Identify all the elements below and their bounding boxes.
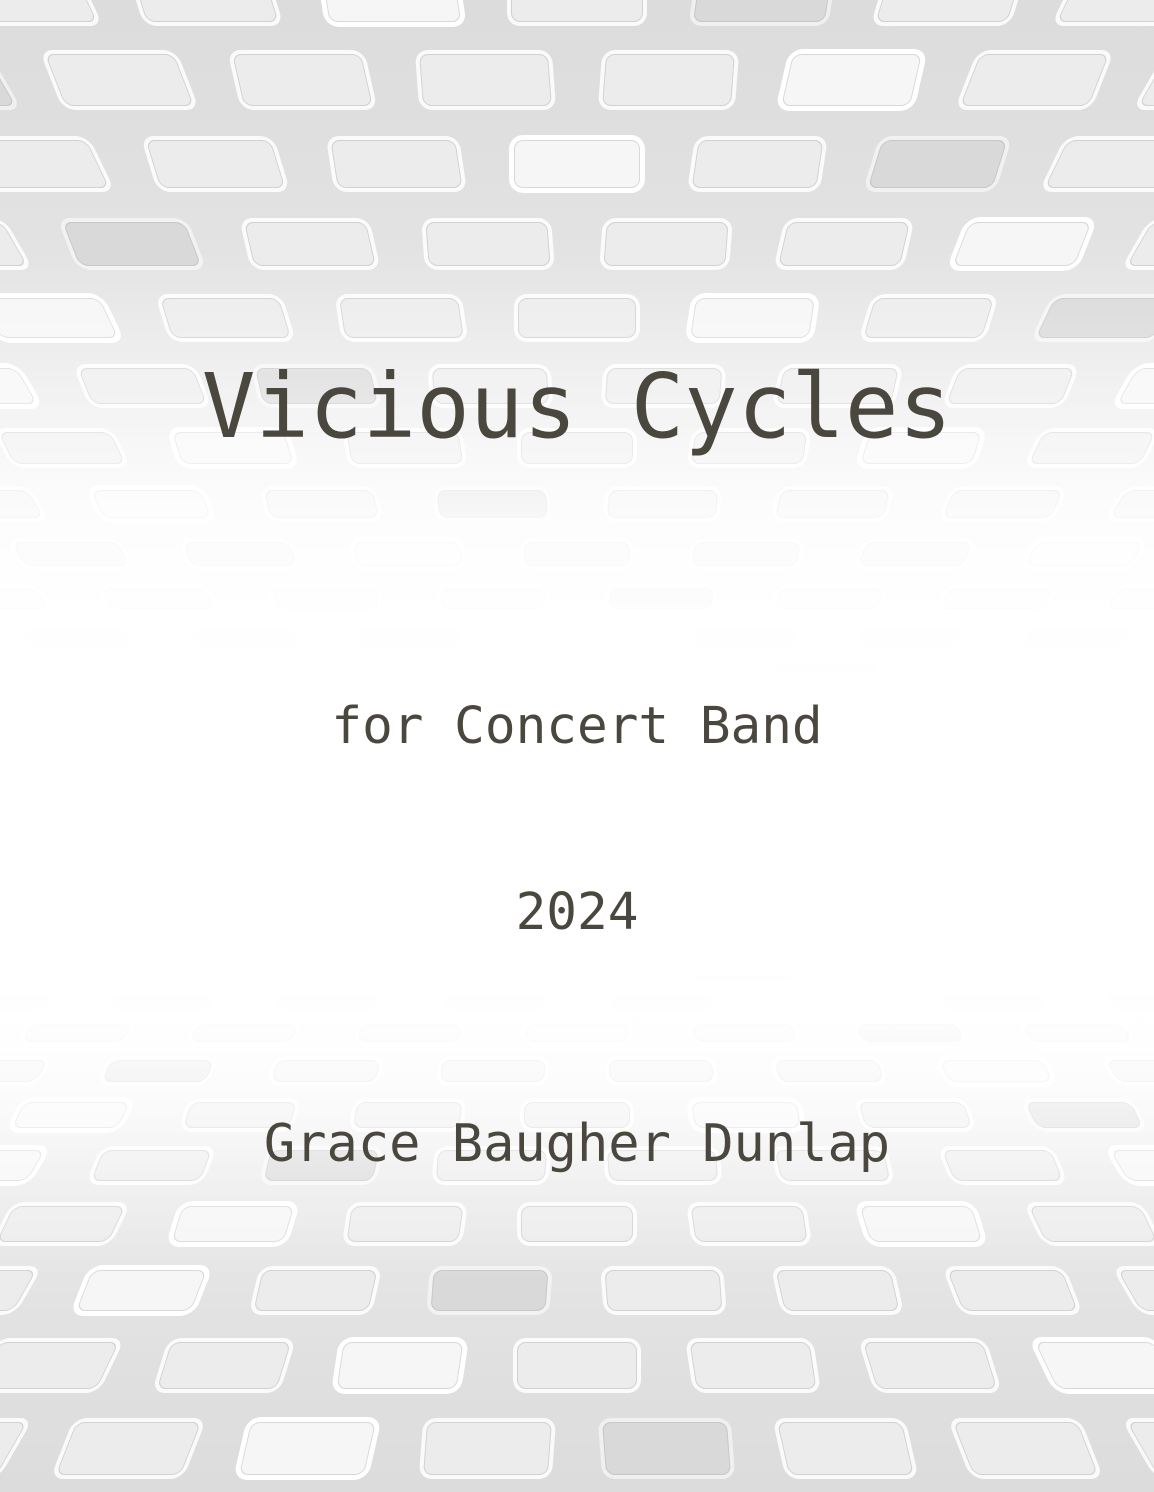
instrumentation-label: for Concert Band: [0, 696, 1154, 758]
composer-name: Grace Baugher Dunlap: [0, 1118, 1154, 1170]
page-title: Vicious Cycles: [0, 362, 1154, 451]
subtitle-block: for Concert Band 2024: [0, 572, 1154, 1068]
year-label: 2024: [0, 882, 1154, 944]
cover-page: Vicious Cycles for Concert Band 2024 Gra…: [0, 0, 1154, 1492]
cover-text-block: Vicious Cycles for Concert Band 2024 Gra…: [0, 0, 1154, 1492]
